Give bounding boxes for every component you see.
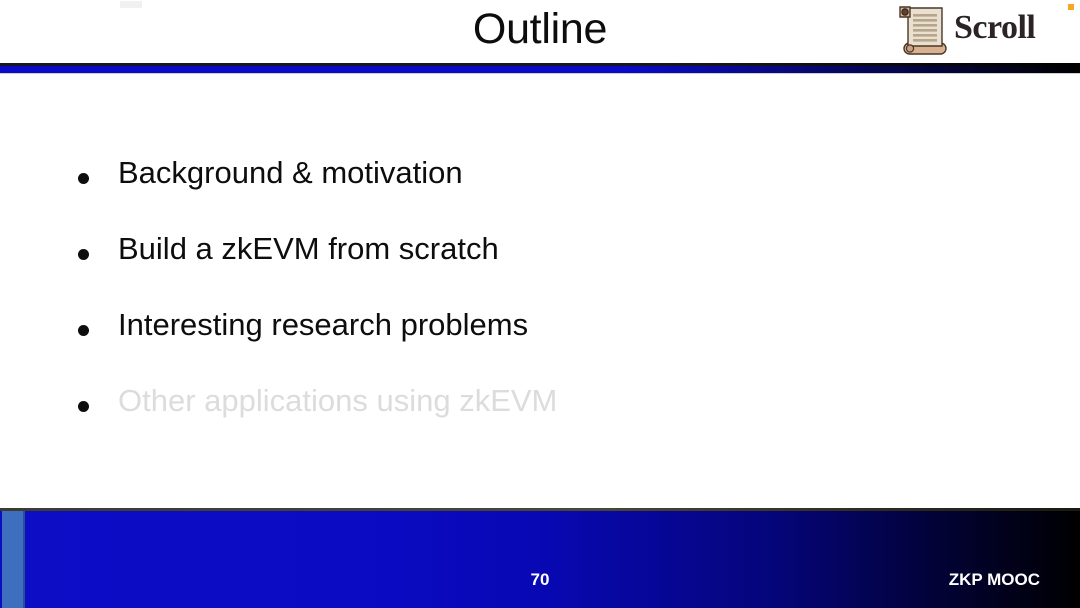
scroll-parchment-icon <box>896 4 954 56</box>
presentation-slide: Outline <box>0 0 1080 608</box>
page-number: 70 <box>0 570 1080 590</box>
slide-footer: 70 ZKP MOOC <box>0 508 1080 608</box>
course-label: ZKP MOOC <box>949 570 1040 590</box>
list-item-label: Build a zkEVM from scratch <box>118 226 499 272</box>
orange-square-marker-icon <box>1068 4 1074 10</box>
divider-shadow-line <box>0 73 1080 74</box>
list-item: Interesting research problems <box>0 302 1080 378</box>
list-item: Other applications using zkEVM <box>0 378 1080 454</box>
list-item-label: Interesting research problems <box>118 302 528 348</box>
bullet-dot-icon <box>78 325 89 336</box>
list-item-label: Background & motivation <box>118 150 463 196</box>
bullet-dot-icon <box>78 173 89 184</box>
footer-accent-stripe <box>2 511 23 608</box>
header-divider <box>0 63 1080 74</box>
divider-blue-line <box>0 66 1080 73</box>
bullet-dot-icon <box>78 401 89 412</box>
list-item: Background & motivation <box>0 150 1080 226</box>
list-item: Build a zkEVM from scratch <box>0 226 1080 302</box>
bullet-dot-icon <box>78 249 89 260</box>
list-item-label: Other applications using zkEVM <box>118 378 557 424</box>
slide-header: Outline <box>0 0 1080 64</box>
brand-logo[interactable]: Scroll <box>896 2 1056 58</box>
footer-gradient-band <box>0 511 1080 608</box>
footer-accent-stripe-edge <box>23 511 25 608</box>
outline-bullet-list: Background & motivation Build a zkEVM fr… <box>0 150 1080 454</box>
brand-name-label: Scroll <box>954 9 1035 47</box>
